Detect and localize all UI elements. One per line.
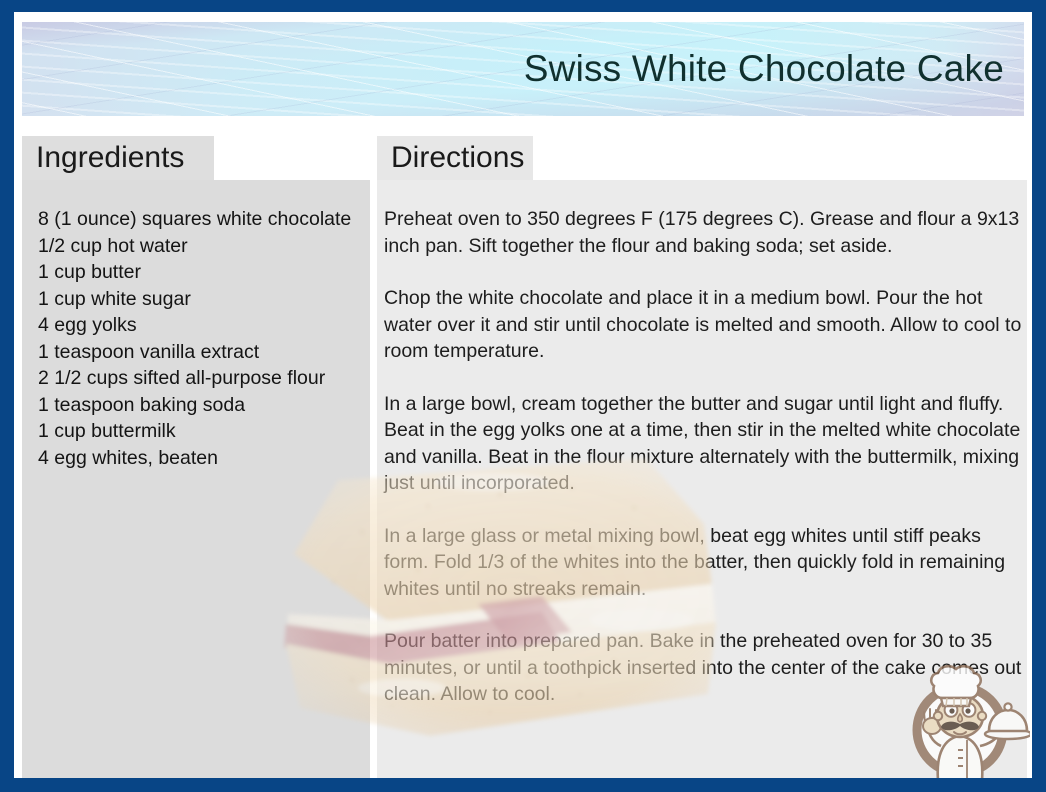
list-item: 4 egg whites, beaten: [38, 445, 368, 472]
ingredients-heading-label: Ingredients: [36, 141, 184, 175]
direction-step: Chop the white chocolate and place it in…: [384, 285, 1024, 365]
list-item: 1 cup buttermilk: [38, 418, 368, 445]
list-item: 2 1/2 cups sifted all-purpose flour: [38, 365, 368, 392]
section-heading-directions: Directions: [377, 136, 533, 180]
direction-step: In a large glass or metal mixing bowl, b…: [384, 523, 1024, 603]
list-item: 4 egg yolks: [38, 312, 368, 339]
section-heading-ingredients: Ingredients: [22, 136, 214, 180]
ingredients-list: 8 (1 ounce) squares white chocolate 1/2 …: [38, 206, 368, 471]
directions-panel: Preheat oven to 350 degrees F (175 degre…: [377, 180, 1027, 778]
list-item: 1/2 cup hot water: [38, 233, 368, 260]
direction-step: In a large bowl, cream together the butt…: [384, 391, 1024, 497]
ingredients-panel: 8 (1 ounce) squares white chocolate 1/2 …: [22, 180, 370, 778]
page-title: Swiss White Chocolate Cake: [524, 48, 1004, 90]
list-item: 1 teaspoon baking soda: [38, 392, 368, 419]
recipe-card-inner: Swiss White Chocolate Cake: [14, 12, 1032, 778]
list-item: 8 (1 ounce) squares white chocolate: [38, 206, 368, 233]
direction-step: Preheat oven to 350 degrees F (175 degre…: [384, 206, 1024, 259]
list-item: 1 teaspoon vanilla extract: [38, 339, 368, 366]
recipe-card: Swiss White Chocolate Cake: [0, 0, 1046, 792]
direction-step: Pour batter into prepared pan. Bake in t…: [384, 628, 1024, 708]
title-banner: Swiss White Chocolate Cake: [22, 22, 1024, 116]
directions-steps: Preheat oven to 350 degrees F (175 degre…: [384, 206, 1024, 708]
list-item: 1 cup butter: [38, 259, 368, 286]
directions-heading-label: Directions: [391, 141, 524, 175]
list-item: 1 cup white sugar: [38, 286, 368, 313]
